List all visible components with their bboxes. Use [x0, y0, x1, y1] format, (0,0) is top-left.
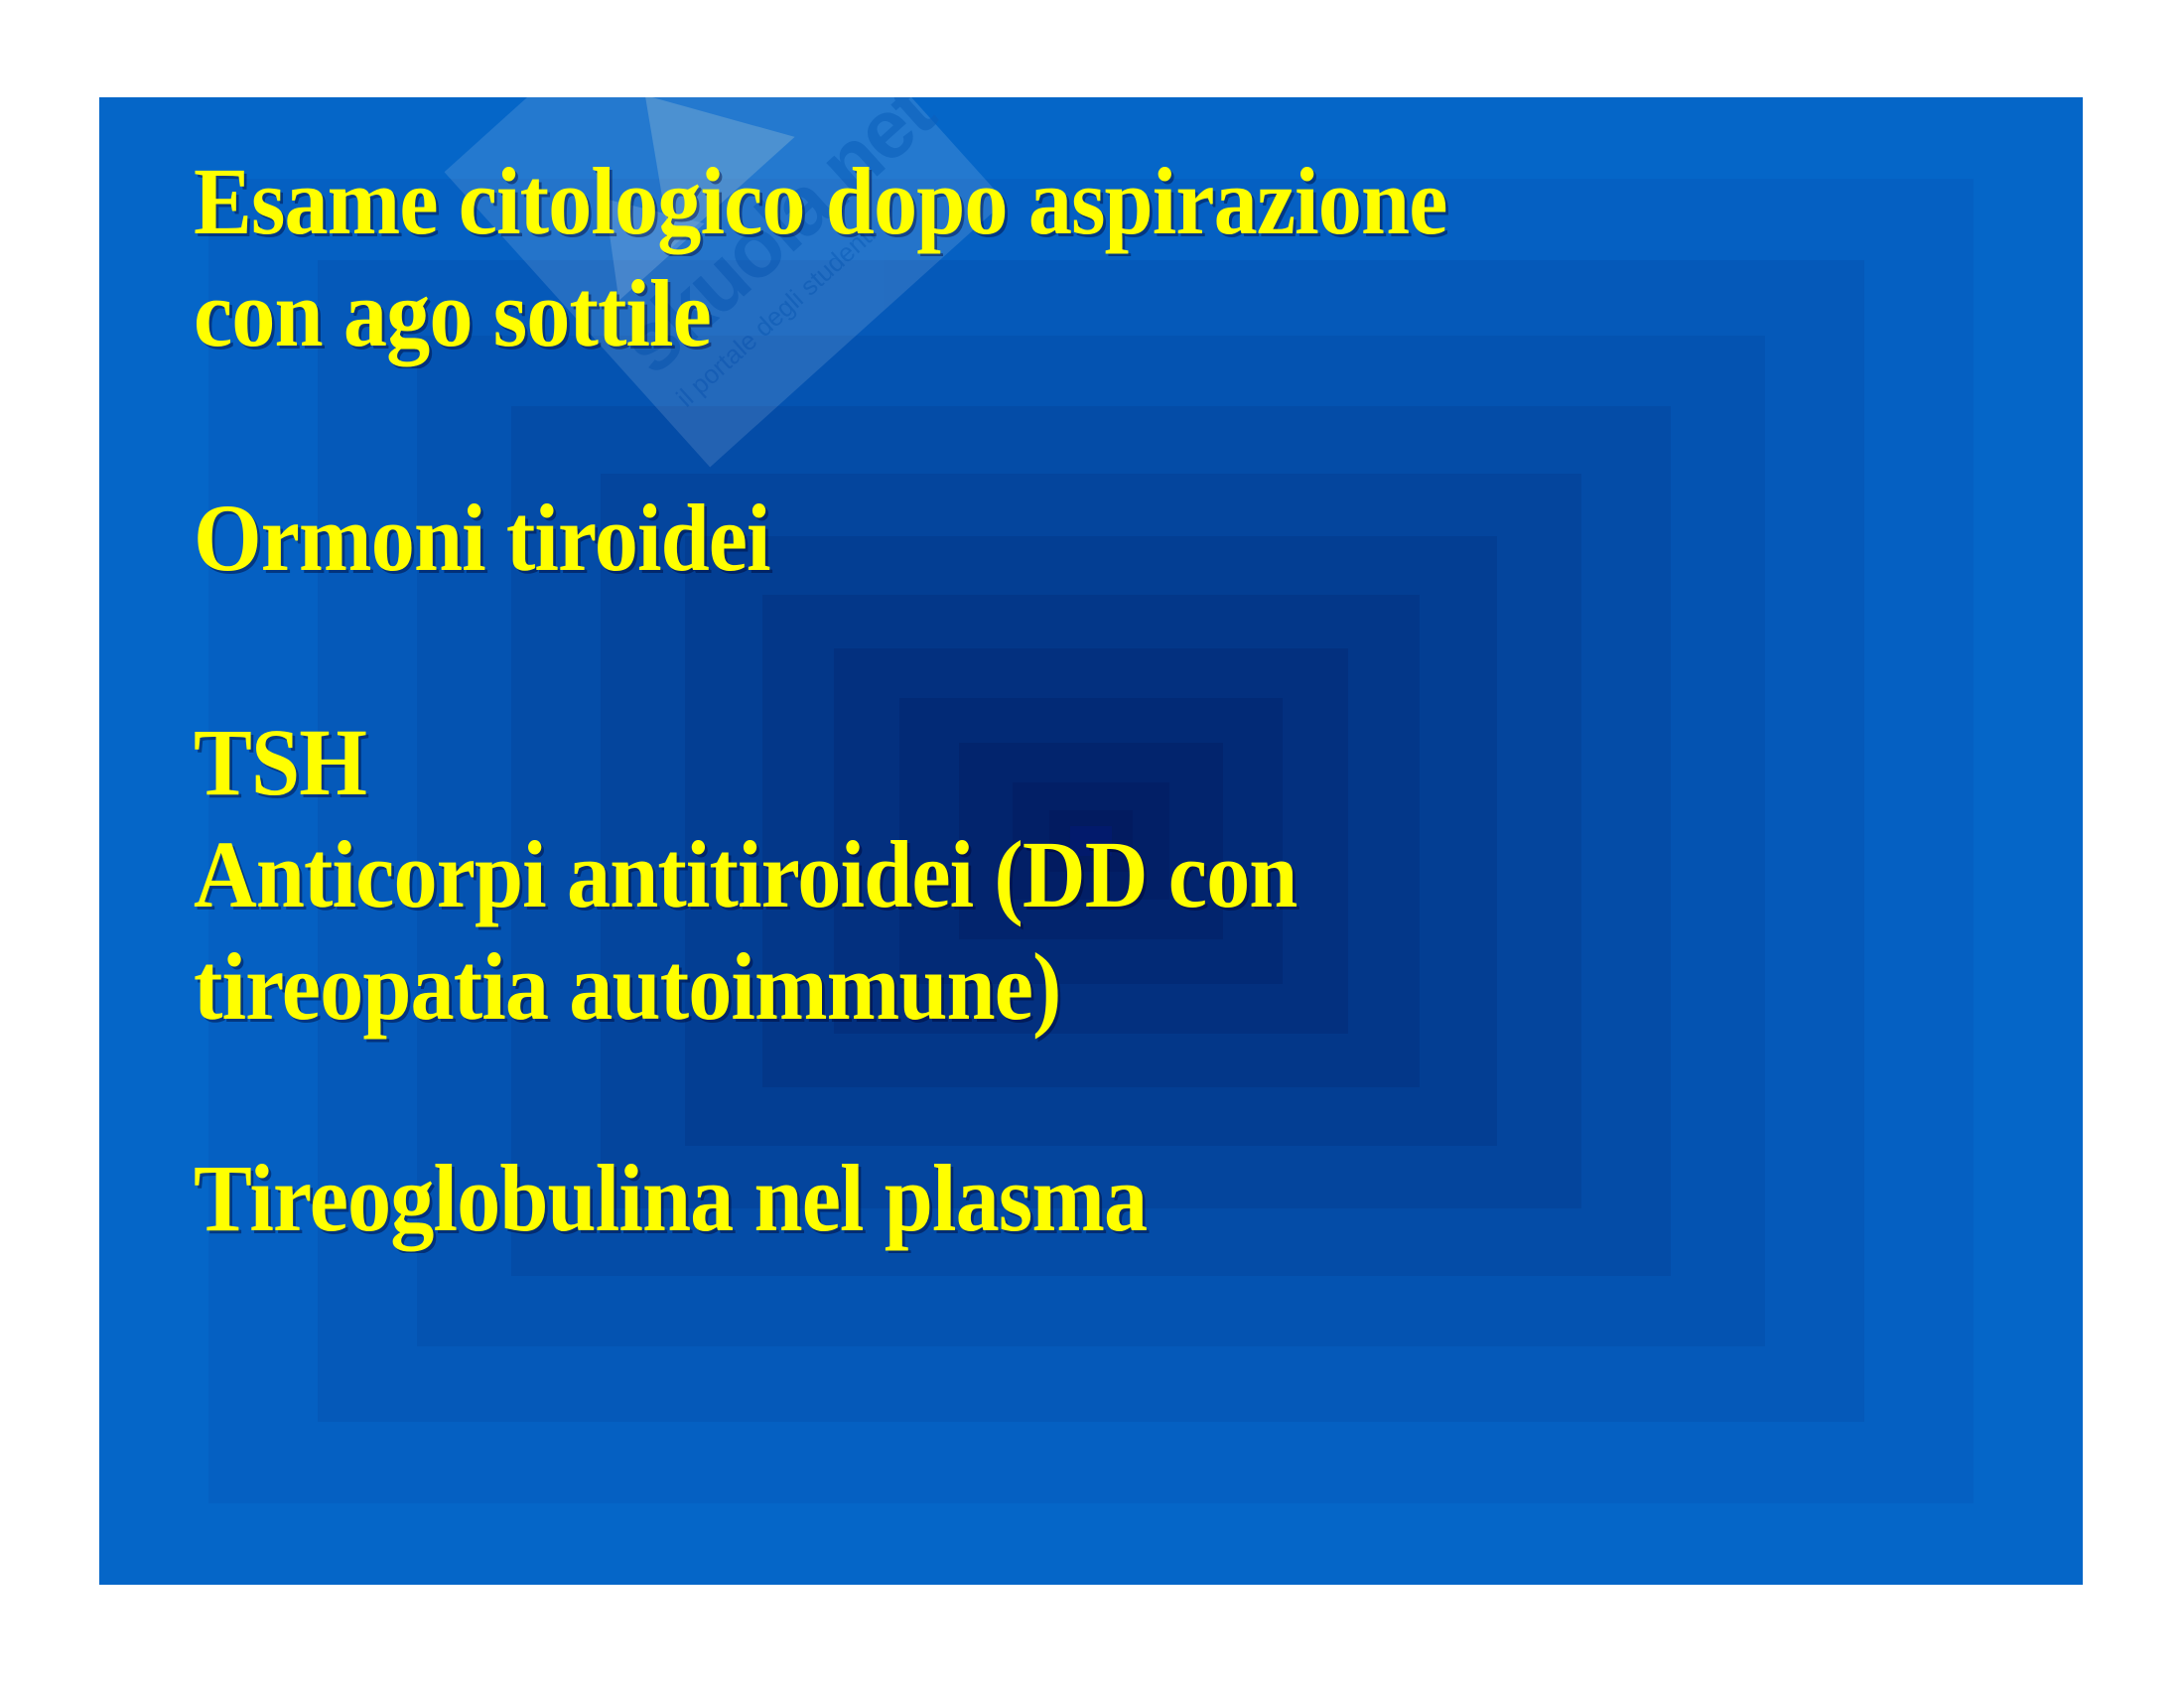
slide-line-7: Tireoglobulina nel plasma	[194, 1142, 1846, 1254]
slide-line-1: Esame citologico dopo aspirazione	[194, 145, 1846, 257]
presentation-slide: skuola.net il portale degli studenti Esa…	[99, 97, 2083, 1585]
slide-text-body: Esame citologico dopo aspirazione con ag…	[194, 145, 1990, 1254]
blank-line-2	[194, 594, 1990, 706]
slide-line-4: TSH	[194, 706, 1846, 818]
blank-line-1	[194, 369, 1990, 482]
blank-line-3	[194, 1043, 1990, 1142]
slide-line-6: tireopatia autoimmune)	[194, 930, 1846, 1043]
slide-line-3: Ormoni tiroidei	[194, 482, 1846, 594]
slide-line-2: con ago sottile	[194, 257, 1846, 369]
slide-line-5: Anticorpi antitiroidei (DD con	[194, 818, 1846, 930]
